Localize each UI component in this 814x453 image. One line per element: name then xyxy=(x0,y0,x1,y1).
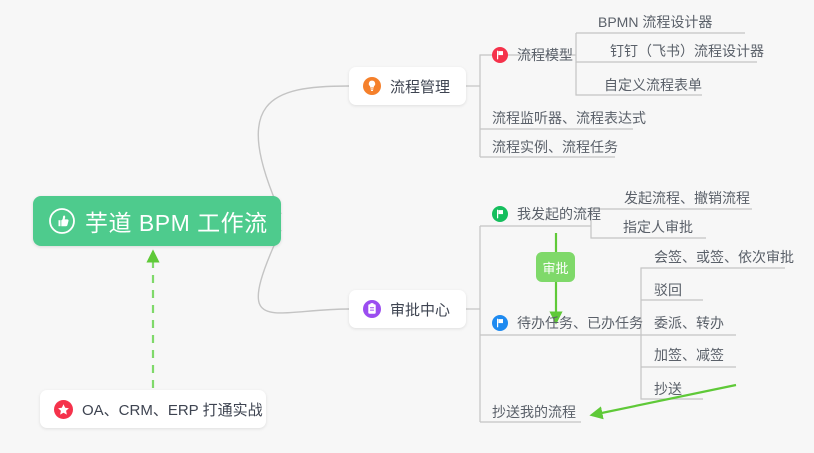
edge-root-to-process-management xyxy=(258,86,349,214)
label-process-listener-expression: 流程监听器、流程表达式 xyxy=(492,108,646,128)
branch-label-approval-center: 审批中心 xyxy=(390,299,450,320)
thumbs-up-icon xyxy=(49,208,75,234)
label-countersign-or-sequential: 会签、或签、依次审批 xyxy=(654,247,794,267)
label-add-remove-sign: 加签、减签 xyxy=(654,345,724,365)
flag-icon xyxy=(492,47,508,63)
clipboard-icon xyxy=(363,300,381,318)
label-cc-to-me-process: 抄送我的流程 xyxy=(492,402,576,422)
approval-badge-label: 审批 xyxy=(542,258,568,277)
node-process-instance-task[interactable]: 流程实例、流程任务 xyxy=(492,136,618,158)
node-start-cancel-process[interactable]: 发起流程、撤销流程 xyxy=(624,187,750,209)
label-start-cancel-process: 发起流程、撤销流程 xyxy=(624,188,750,208)
branch-label-process-management: 流程管理 xyxy=(390,76,450,97)
root-label: 芋道 BPM 工作流 xyxy=(85,204,268,238)
lightbulb-icon xyxy=(363,77,381,95)
node-dingtalk-feishu-designer[interactable]: 钉钉（飞书）流程设计器 xyxy=(610,40,764,62)
node-process-model[interactable]: 流程模型 xyxy=(492,44,573,66)
node-cc[interactable]: 抄送 xyxy=(654,378,682,400)
label-process-model: 流程模型 xyxy=(517,45,573,65)
label-delegate-transfer: 委派、转办 xyxy=(654,313,724,333)
label-todo-done-tasks: 待办任务、已办任务 xyxy=(517,313,643,333)
node-reject[interactable]: 驳回 xyxy=(654,279,682,301)
label-reject: 驳回 xyxy=(654,280,682,300)
label-assignee-approval: 指定人审批 xyxy=(623,217,693,237)
branch-node-approval-center[interactable]: 审批中心 xyxy=(349,290,466,328)
node-cc-to-me-process[interactable]: 抄送我的流程 xyxy=(492,401,576,423)
branch-node-process-management[interactable]: 流程管理 xyxy=(349,67,466,105)
node-assignee-approval[interactable]: 指定人审批 xyxy=(623,216,693,238)
label-bpmn-designer: BPMN 流程设计器 xyxy=(598,12,712,32)
label-cc: 抄送 xyxy=(654,379,682,399)
integration-note-label: OA、CRM、ERP 打通实战 xyxy=(82,399,263,420)
mindmap-canvas: 芋道 BPM 工作流 流程管理 流程模型 BPMN 流程设计器 钉钉（飞书）流 xyxy=(0,0,814,453)
approval-badge[interactable]: 审批 xyxy=(536,252,575,282)
label-my-initiated-process: 我发起的流程 xyxy=(517,204,601,224)
flag-icon xyxy=(492,315,508,331)
node-bpmn-designer[interactable]: BPMN 流程设计器 xyxy=(598,11,712,33)
star-icon xyxy=(54,400,73,419)
node-custom-process-form[interactable]: 自定义流程表单 xyxy=(604,74,702,96)
node-my-initiated-process[interactable]: 我发起的流程 xyxy=(492,203,601,225)
node-process-listener-expression[interactable]: 流程监听器、流程表达式 xyxy=(492,107,646,129)
flag-icon xyxy=(492,206,508,222)
label-dingtalk-feishu-designer: 钉钉（飞书）流程设计器 xyxy=(610,41,764,61)
node-countersign-or-sequential[interactable]: 会签、或签、依次审批 xyxy=(654,246,794,268)
root-node[interactable]: 芋道 BPM 工作流 xyxy=(33,196,281,246)
label-process-instance-task: 流程实例、流程任务 xyxy=(492,137,618,157)
node-delegate-transfer[interactable]: 委派、转办 xyxy=(654,312,724,334)
integration-note-node[interactable]: OA、CRM、ERP 打通实战 xyxy=(40,390,266,428)
label-custom-process-form: 自定义流程表单 xyxy=(604,75,702,95)
node-add-remove-sign[interactable]: 加签、减签 xyxy=(654,344,724,366)
node-todo-done-tasks[interactable]: 待办任务、已办任务 xyxy=(492,312,643,334)
